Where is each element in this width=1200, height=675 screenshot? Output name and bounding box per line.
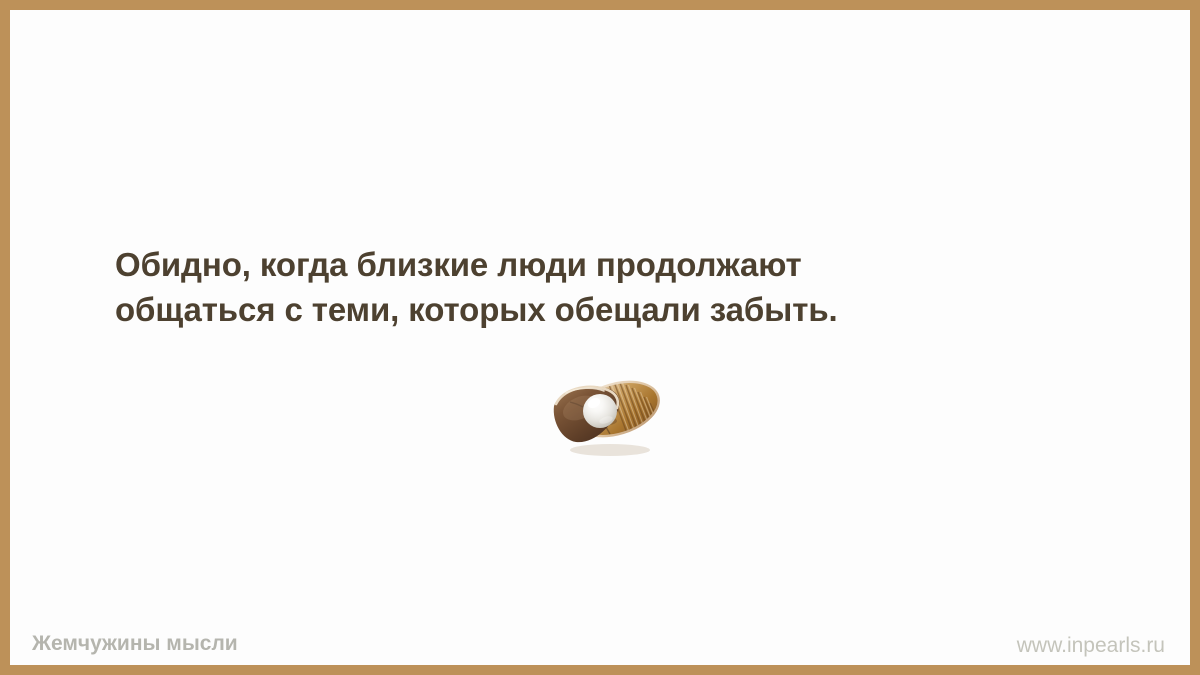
quote-text: Обидно, когда близкие люди продолжают об… [115, 242, 1115, 332]
quote-line-2: общаться с теми, которых обещали забыть. [115, 287, 1115, 332]
site-url-label[interactable]: www.inpearls.ru [1017, 632, 1165, 660]
quote-card: Обидно, когда близкие люди продолжают об… [0, 0, 1200, 675]
oyster-shell-with-pearl-icon [544, 376, 676, 458]
site-brand-label: Жемчужины мысли [32, 630, 238, 658]
quote-line-1: Обидно, когда близкие люди продолжают [115, 242, 1115, 287]
